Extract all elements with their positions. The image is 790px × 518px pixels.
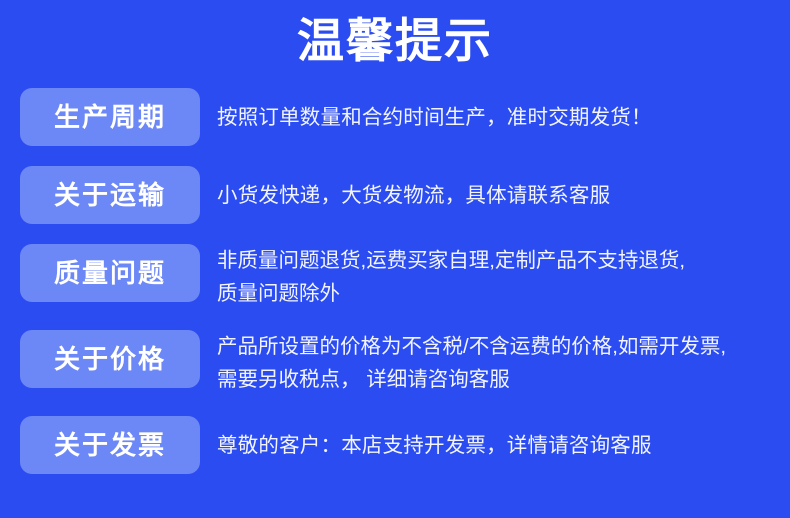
notice-badge-label: 关于运输 xyxy=(54,180,166,210)
notice-row-text-line: 尊敬的客户：本店支持开发票，详情请咨询客服 xyxy=(217,429,782,462)
notice-row-text: 产品所设置的价格为不含税/不含运费的价格,如需开发票, 需要另收税点， 详细请咨… xyxy=(200,330,790,396)
notice-row: 质量问题 非质量问题退货,运费买家自理,定制产品不支持退货, 质量问题除外 xyxy=(0,244,790,310)
notice-row-text-line: 质量问题除外 xyxy=(217,277,782,310)
notice-badge-quality: 质量问题 xyxy=(20,244,200,302)
notice-badge-price: 关于价格 xyxy=(20,330,200,388)
notice-badge-production-cycle: 生产周期 xyxy=(20,88,200,146)
notice-row-text-line: 按照订单数量和合约时间生产，准时交期发货！ xyxy=(217,101,782,134)
notice-card: 温馨提示 生产周期 按照订单数量和合约时间生产，准时交期发货！ 关于运输 小货发… xyxy=(0,0,790,518)
notice-row: 关于运输 小货发快递，大货发物流，具体请联系客服 xyxy=(0,166,790,224)
notice-row-text: 非质量问题退货,运费买家自理,定制产品不支持退货, 质量问题除外 xyxy=(200,244,790,310)
notice-badge-shipping: 关于运输 xyxy=(20,166,200,224)
notice-row-list: 生产周期 按照订单数量和合约时间生产，准时交期发货！ 关于运输 小货发快递，大货… xyxy=(0,88,790,494)
notice-badge-label: 质量问题 xyxy=(54,258,166,288)
notice-row: 关于价格 产品所设置的价格为不含税/不含运费的价格,如需开发票, 需要另收税点，… xyxy=(0,330,790,396)
notice-row-text-line: 小货发快递，大货发物流，具体请联系客服 xyxy=(217,179,782,212)
notice-row-text-line: 非质量问题退货,运费买家自理,定制产品不支持退货, xyxy=(217,244,782,277)
notice-row-text-line: 产品所设置的价格为不含税/不含运费的价格,如需开发票, xyxy=(217,330,782,363)
notice-row-text: 小货发快递，大货发物流，具体请联系客服 xyxy=(200,166,790,224)
notice-row: 生产周期 按照订单数量和合约时间生产，准时交期发货！ xyxy=(0,88,790,146)
notice-row-text: 按照订单数量和合约时间生产，准时交期发货！ xyxy=(200,88,790,146)
notice-badge-label: 关于价格 xyxy=(54,344,166,374)
notice-row-text: 尊敬的客户：本店支持开发票，详情请咨询客服 xyxy=(200,416,790,474)
page-title: 温馨提示 xyxy=(0,11,790,71)
notice-row-text-line: 需要另收税点， 详细请咨询客服 xyxy=(217,363,782,396)
notice-badge-label: 生产周期 xyxy=(54,102,166,132)
notice-badge-invoice: 关于发票 xyxy=(20,416,200,474)
notice-badge-label: 关于发票 xyxy=(54,430,166,460)
notice-row: 关于发票 尊敬的客户：本店支持开发票，详情请咨询客服 xyxy=(0,416,790,474)
